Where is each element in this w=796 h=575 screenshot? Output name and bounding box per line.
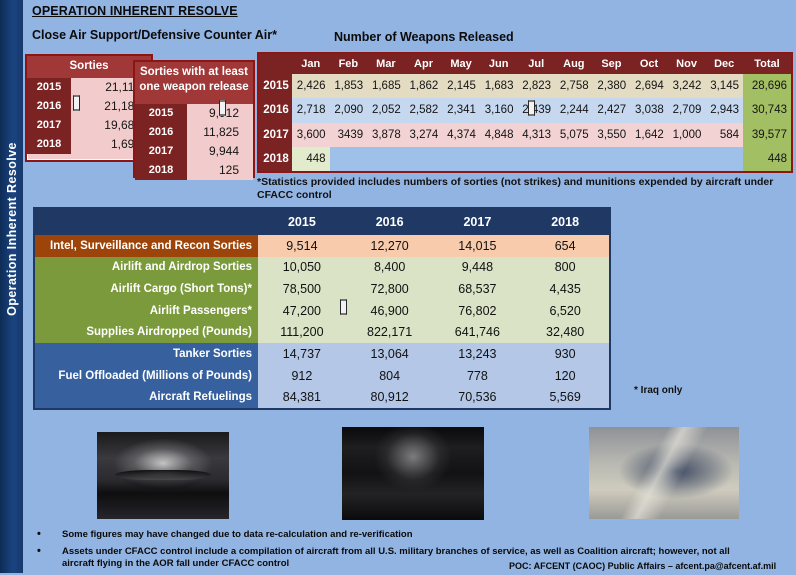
main-header-2017: 2017: [434, 209, 522, 235]
row-total: 28,696: [743, 74, 791, 98]
cell: 2,380: [593, 74, 631, 98]
main-header-2018: 2018: [521, 209, 609, 235]
weapons-table-title: Number of Weapons Released: [334, 30, 514, 44]
main-statistics-table-wrapper: 2015 2016 2017 2018 Intel, Surveillance …: [33, 207, 611, 410]
sorties-value: 1,693: [71, 135, 141, 154]
cell: 3,145: [705, 74, 743, 98]
cell: [405, 147, 443, 171]
row-label: Airlift and Airdrop Sorties: [35, 257, 258, 279]
cell: 654: [521, 235, 609, 257]
cell: 70,536: [434, 386, 522, 408]
cell: 3,550: [593, 123, 631, 147]
cell: 2,341: [442, 98, 480, 122]
cell: [705, 147, 743, 171]
weapon-release-value: 9,912: [187, 104, 239, 123]
cell: 3,600: [292, 123, 330, 147]
cell: 584: [705, 123, 743, 147]
table-row: 2018 448 448: [259, 147, 791, 171]
cell: 13,243: [434, 343, 522, 365]
cell: [593, 147, 631, 171]
month-header-aug: Aug: [555, 54, 593, 74]
row-label: Intel, Surveillance and Recon Sorties: [35, 235, 258, 257]
weapon-release-year: 2018: [135, 161, 187, 180]
cell: 6,520: [521, 300, 609, 322]
cell: 4,374: [442, 123, 480, 147]
sorties-year: 2017: [27, 116, 71, 135]
month-header-jul: Jul: [517, 54, 555, 74]
cell: 1,685: [367, 74, 405, 98]
cell: 9,448: [434, 257, 522, 279]
cell: 800: [521, 257, 609, 279]
sorties-value: 19,680: [71, 116, 141, 135]
table-row: 2015 2,426 1,853 1,685 1,862 2,145 1,683…: [259, 74, 791, 98]
main-corner-header: [35, 209, 258, 235]
cell: 1,000: [668, 123, 706, 147]
cell: 80,912: [346, 386, 434, 408]
cell: 2,427: [593, 98, 631, 122]
cell: 84,381: [258, 386, 346, 408]
text-cursor-icon: [219, 100, 226, 116]
table-row: Fuel Offloaded (Millions of Pounds) 912 …: [35, 365, 609, 387]
cell: 1,683: [480, 74, 518, 98]
weapon-release-card-body: 2015 2016 2017 2018 9,912 11,825 9,944 1…: [135, 104, 253, 180]
cell: 2,582: [405, 98, 443, 122]
weapon-release-card-years: 2015 2016 2017 2018: [135, 104, 187, 180]
table-row: 2016 2,718 2,090 2,052 2,582 2,341 3,160…: [259, 98, 791, 122]
cell: 3,274: [405, 123, 443, 147]
row-total: 39,577: [743, 123, 791, 147]
cell: [630, 147, 668, 171]
cell: 930: [521, 343, 609, 365]
sorties-value: 21,116: [71, 78, 141, 97]
month-header-mar: Mar: [367, 54, 405, 74]
weapons-released-table-wrapper: Jan Feb Mar Apr May Jun Jul Aug Sep Oct …: [257, 52, 793, 173]
poc-line: POC: AFCENT (CAOC) Public Affairs – afce…: [509, 561, 776, 571]
statistics-footnote: *Statistics provided includes numbers of…: [257, 176, 792, 202]
main-statistics-table: 2015 2016 2017 2018 Intel, Surveillance …: [35, 209, 609, 408]
month-header-nov: Nov: [668, 54, 706, 74]
weapon-release-card: Sorties with at least one weapon release…: [133, 60, 255, 178]
cell: [367, 147, 405, 171]
sorties-value: 21,181: [71, 97, 141, 116]
cell: 2,694: [630, 74, 668, 98]
cell: [555, 147, 593, 171]
weapons-corner-header: [259, 54, 292, 74]
weapon-release-card-heading: Sorties with at least one weapon release: [135, 62, 253, 104]
row-year: 2016: [259, 98, 292, 122]
cell: 3439: [330, 123, 368, 147]
cell: 32,480: [521, 322, 609, 344]
cell: 912: [258, 365, 346, 387]
cell: 5,569: [521, 386, 609, 408]
sorties-card-years: 2015 2016 2017 2018: [27, 78, 71, 154]
cell: 3,878: [367, 123, 405, 147]
row-year: 2017: [259, 123, 292, 147]
month-header-oct: Oct: [630, 54, 668, 74]
sidebar-title: Operation Inherent Resolve: [5, 89, 19, 369]
weapon-release-year: 2016: [135, 123, 187, 142]
cell: 4,435: [521, 278, 609, 300]
cell: 14,015: [434, 235, 522, 257]
total-header: Total: [743, 54, 791, 74]
page-title: OPERATION INHERENT RESOLVE: [32, 4, 238, 18]
weapon-release-value: 9,944: [187, 142, 239, 161]
list-item: Some figures may have changed due to dat…: [33, 529, 733, 542]
cell: 10,050: [258, 257, 346, 279]
cell: 8,400: [346, 257, 434, 279]
iraq-only-footnote: * Iraq only: [634, 385, 682, 396]
month-header-feb: Feb: [330, 54, 368, 74]
row-label: Supplies Airdropped (Pounds): [35, 322, 258, 344]
cell: 111,200: [258, 322, 346, 344]
cell: [480, 147, 518, 171]
text-cursor-icon: [528, 100, 535, 116]
cell: 641,746: [434, 322, 522, 344]
row-label: Airlift Passengers*: [35, 300, 258, 322]
weapon-release-year: 2017: [135, 142, 187, 161]
row-total: 30,743: [743, 98, 791, 122]
cell: 120: [521, 365, 609, 387]
cell: 9,514: [258, 235, 346, 257]
weapon-release-value: 11,825: [187, 123, 239, 142]
cell: 2,943: [705, 98, 743, 122]
cell: 5,075: [555, 123, 593, 147]
table-row: Aircraft Refuelings 84,381 80,912 70,536…: [35, 386, 609, 408]
cell: 4,848: [480, 123, 518, 147]
cell: 3,038: [630, 98, 668, 122]
cell: 72,800: [346, 278, 434, 300]
cell: 13,064: [346, 343, 434, 365]
cell: 1,853: [330, 74, 368, 98]
cell: 4,313: [517, 123, 555, 147]
row-total: 448: [743, 147, 791, 171]
weapons-released-table: Jan Feb Mar Apr May Jun Jul Aug Sep Oct …: [259, 54, 791, 171]
cell: 78,500: [258, 278, 346, 300]
sorties-year: 2016: [27, 97, 71, 116]
row-year: 2015: [259, 74, 292, 98]
cell: 2,052: [367, 98, 405, 122]
cell: 2,244: [555, 98, 593, 122]
weapon-release-value: 125: [187, 161, 239, 180]
cell: 822,171: [346, 322, 434, 344]
cell: 2,439: [517, 98, 555, 122]
weapon-release-heading-line2: one weapon release: [137, 80, 251, 95]
month-header-apr: Apr: [405, 54, 443, 74]
cell: 2,145: [442, 74, 480, 98]
sorties-year: 2015: [27, 78, 71, 97]
page-subtitle: Close Air Support/Defensive Counter Air*: [32, 28, 277, 42]
cell: [668, 147, 706, 171]
cell: 804: [346, 365, 434, 387]
month-header-jan: Jan: [292, 54, 330, 74]
cell: 14,737: [258, 343, 346, 365]
row-year: 2018: [259, 147, 292, 171]
photo-aerial-refueling: [589, 427, 739, 519]
cell: [330, 147, 368, 171]
text-cursor-icon: [340, 299, 347, 315]
row-label: Airlift Cargo (Short Tons)*: [35, 278, 258, 300]
row-label: Tanker Sorties: [35, 343, 258, 365]
weapon-release-heading-line1: Sorties with at least: [137, 65, 251, 80]
cell: 2,718: [292, 98, 330, 122]
cell: 76,802: [434, 300, 522, 322]
sidebar-band: Operation Inherent Resolve: [0, 0, 23, 573]
cell: 12,270: [346, 235, 434, 257]
text-cursor-icon: [73, 95, 80, 111]
cell: 1,642: [630, 123, 668, 147]
cell: [442, 147, 480, 171]
table-row: 2017 3,600 3439 3,878 3,274 4,374 4,848 …: [259, 123, 791, 147]
table-row: Tanker Sorties 14,737 13,064 13,243 930: [35, 343, 609, 365]
cell: [517, 147, 555, 171]
table-row: Intel, Surveillance and Recon Sorties 9,…: [35, 235, 609, 257]
row-label: Aircraft Refuelings: [35, 386, 258, 408]
month-header-sep: Sep: [593, 54, 631, 74]
cell: 1,862: [405, 74, 443, 98]
main-header-2016: 2016: [346, 209, 434, 235]
photo-cargo-loading-interior: [342, 427, 484, 520]
table-row: Airlift Passengers* 47,200 46,900 76,802…: [35, 300, 609, 322]
cell: 46,900: [346, 300, 434, 322]
cell: 2,426: [292, 74, 330, 98]
cell: 3,160: [480, 98, 518, 122]
month-header-may: May: [442, 54, 480, 74]
table-row: Supplies Airdropped (Pounds) 111,200 822…: [35, 322, 609, 344]
table-row: Airlift Cargo (Short Tons)* 78,500 72,80…: [35, 278, 609, 300]
month-header-jun: Jun: [480, 54, 518, 74]
weapons-header-row: Jan Feb Mar Apr May Jun Jul Aug Sep Oct …: [259, 54, 791, 74]
photo-cargo-aircraft-night: [97, 432, 229, 519]
table-row: Airlift and Airdrop Sorties 10,050 8,400…: [35, 257, 609, 279]
cell: 2,758: [555, 74, 593, 98]
cell: 2,823: [517, 74, 555, 98]
main-header-2015: 2015: [258, 209, 346, 235]
cell: 3,242: [668, 74, 706, 98]
cell: 47,200: [258, 300, 346, 322]
cell: 778: [434, 365, 522, 387]
cell: 2,090: [330, 98, 368, 122]
cell: 68,537: [434, 278, 522, 300]
row-label: Fuel Offloaded (Millions of Pounds): [35, 365, 258, 387]
weapon-release-year: 2015: [135, 104, 187, 123]
main-header-row: 2015 2016 2017 2018: [35, 209, 609, 235]
cell: 2,709: [668, 98, 706, 122]
month-header-dec: Dec: [705, 54, 743, 74]
cell: 448: [292, 147, 330, 171]
sorties-year: 2018: [27, 135, 71, 154]
